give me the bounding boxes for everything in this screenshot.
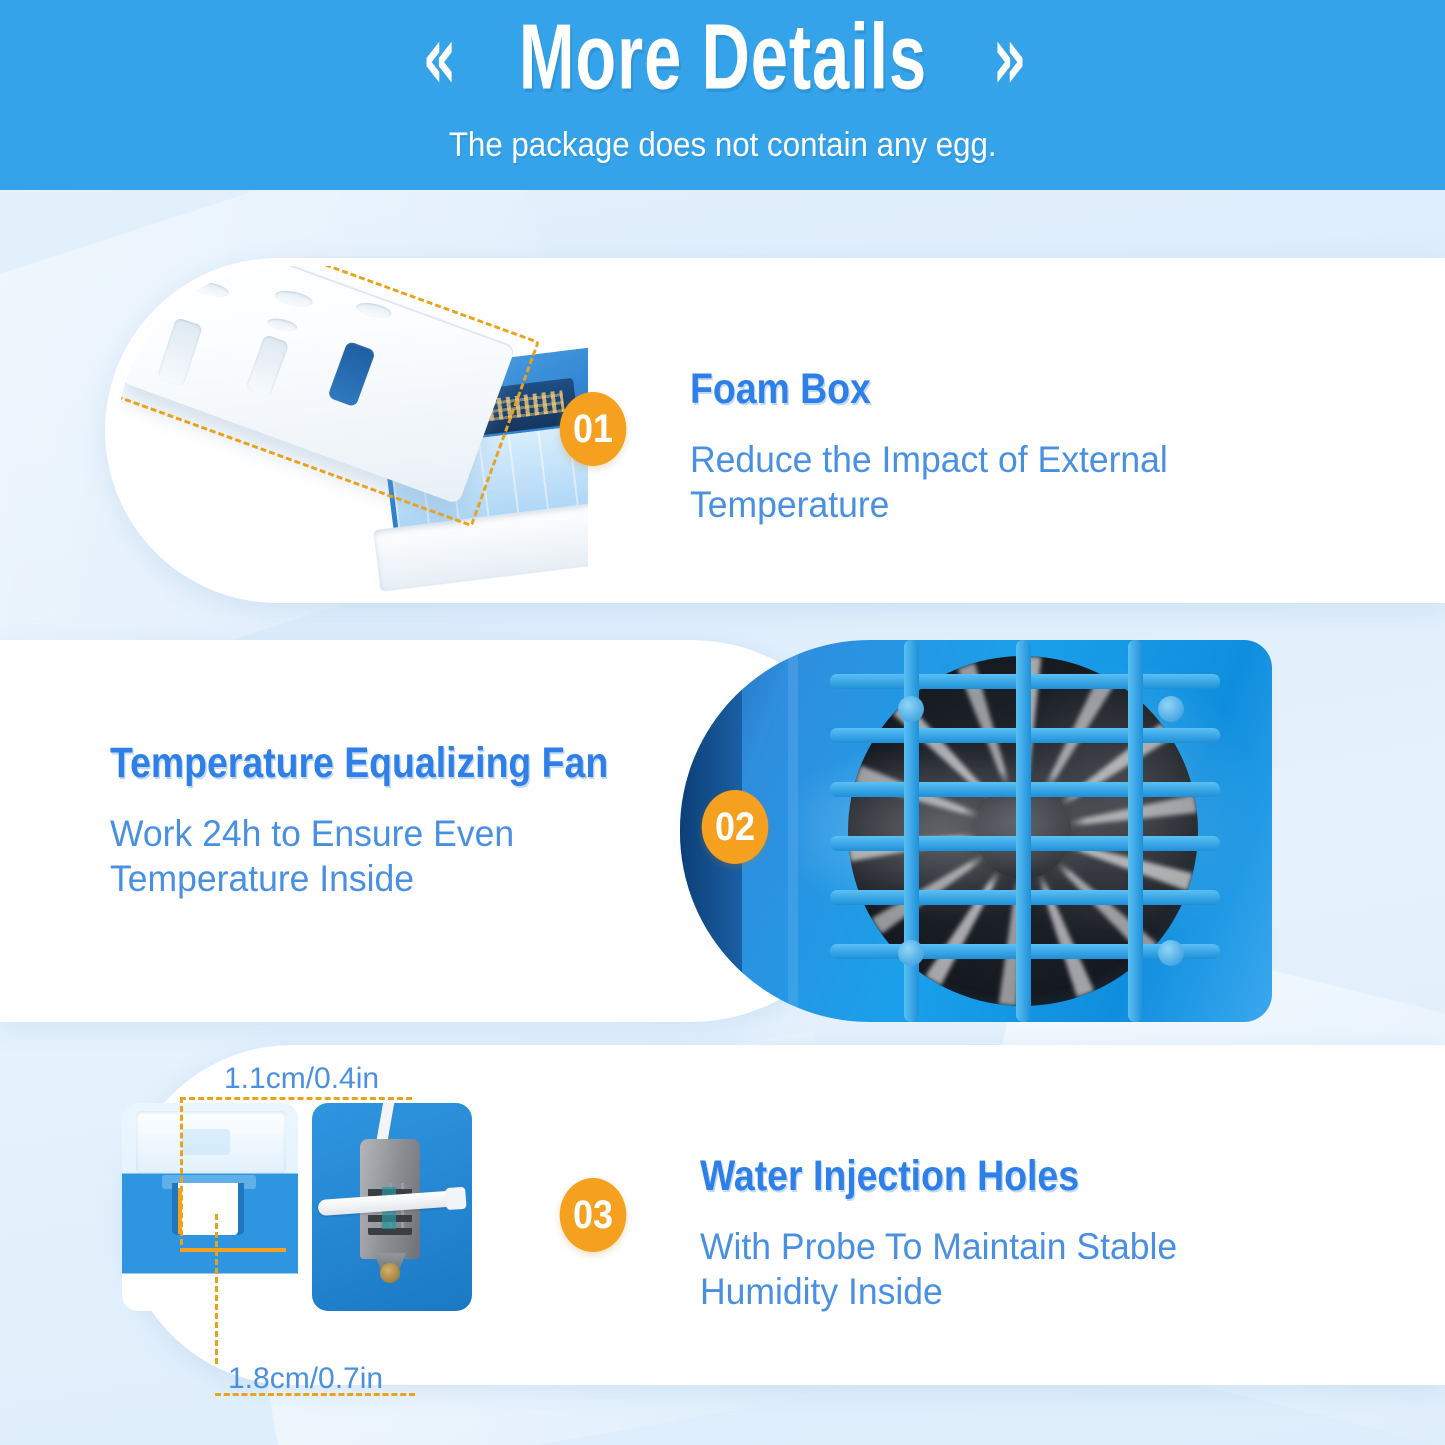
feature-text-01: Foam Box Reduce the Impact of External T… <box>690 368 1330 527</box>
feature-description-03: With Probe To Maintain Stable Humidity I… <box>700 1224 1314 1314</box>
water-hole-photo <box>122 1103 298 1311</box>
feature-number-badge-01: 01 <box>560 392 627 466</box>
housing-seam <box>788 640 798 1022</box>
screw-boss <box>898 940 924 966</box>
feature-title-02: Temperature Equalizing Fan <box>110 742 658 785</box>
grille-bar <box>1128 640 1143 1022</box>
foam-box-highlight-outline <box>118 266 540 527</box>
feature-number-badge-03: 03 <box>560 1178 627 1252</box>
screw-boss <box>1158 940 1184 966</box>
page-title: More Details <box>518 11 926 104</box>
feature-text-03: Water Injection Holes With Probe To Main… <box>700 1155 1340 1314</box>
feature-description-02: Work 24h to Ensure Even Temperature Insi… <box>110 811 715 901</box>
dimension-guide-top <box>180 1097 412 1100</box>
feature-title-01: Foam Box <box>690 368 1247 411</box>
dimension-guide-bottom-vertical <box>215 1214 218 1364</box>
feature-text-02: Temperature Equalizing Fan Work 24h to E… <box>110 742 740 901</box>
infographic-page: « More Details » The package does not co… <box>0 0 1445 1445</box>
title-row: « More Details » <box>420 20 1024 96</box>
probe-screw <box>380 1263 400 1283</box>
fan-grille <box>830 640 1220 1022</box>
dimension-label-top: 1.1cm/0.4in <box>224 1062 379 1096</box>
feature-title-03: Water Injection Holes <box>700 1155 1257 1198</box>
dimension-arrow-vertical <box>178 1188 182 1234</box>
feature-description-01: Reduce the Impact of External Temperatur… <box>690 437 1304 527</box>
dimension-label-bottom: 1.8cm/0.7in <box>228 1362 383 1396</box>
humidity-probe-photo <box>312 1103 472 1311</box>
page-subtitle: The package does not contain any egg. <box>449 126 997 165</box>
chevron-left-icon: « <box>423 13 452 103</box>
clear-lid <box>136 1111 286 1173</box>
fan-photo <box>680 640 1272 1022</box>
chevron-right-icon: » <box>993 13 1022 103</box>
dimension-arrow-horizontal <box>180 1248 286 1252</box>
page-header: « More Details » The package does not co… <box>0 0 1445 190</box>
foam-box-photo <box>118 266 588 596</box>
feature-number-badge-02: 02 <box>702 790 769 864</box>
screw-boss <box>1158 696 1184 722</box>
grille-bar <box>1016 640 1031 1022</box>
screw-boss <box>898 696 924 722</box>
